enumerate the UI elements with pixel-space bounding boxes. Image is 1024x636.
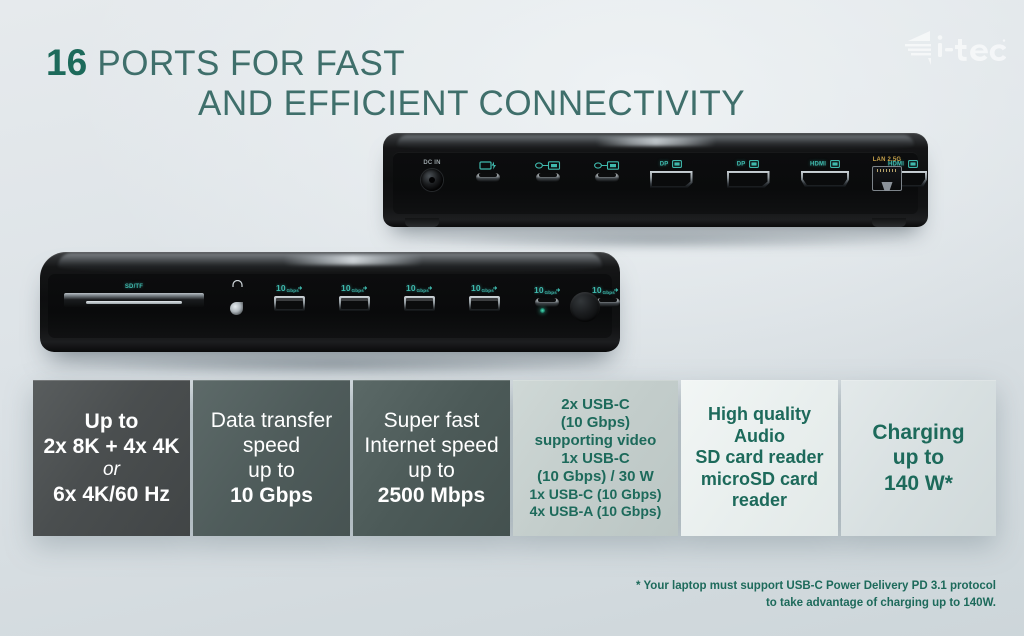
svg-text:Gbps: Gbps (545, 290, 558, 295)
port-label-sd-tf: SD/TF (62, 284, 206, 290)
feature-line: 2500 Mbps (361, 483, 502, 508)
usb-c-connector (476, 173, 500, 182)
usb-10gbps-icon: 10Gbps (461, 283, 507, 293)
svg-text:Gbps: Gbps (287, 288, 300, 293)
dock-front-body: SD/TF 10Gbps (40, 252, 620, 352)
feature-line: reader (689, 490, 830, 512)
usb-c-display-icon (524, 161, 572, 170)
svg-text:Gbps: Gbps (603, 290, 616, 295)
feature-line: SD card reader (689, 447, 830, 469)
svg-text:Gbps: Gbps (482, 288, 495, 293)
svg-text:10: 10 (341, 283, 351, 293)
footnote-line-1: * Your laptop must support USB-C Power D… (476, 578, 996, 595)
feature-line: microSD card (689, 469, 830, 491)
i-tec-logo (900, 27, 1006, 69)
usb-c-connector (536, 173, 560, 182)
status-led (537, 308, 547, 313)
docking-station-front: SD/TF 10Gbps (40, 252, 620, 364)
port-usbc-display-2[interactable] (583, 161, 631, 182)
laptop-charge-icon (466, 161, 510, 170)
feature-line: (10 Gbps) (521, 414, 670, 432)
port-label-dc-in: DC IN (409, 160, 455, 166)
feature-line: up to (361, 458, 502, 483)
port-displayport-2[interactable]: DP (718, 160, 778, 188)
port-label-hdmi-1: HDMI (793, 160, 857, 168)
dock-rear-port-panel: DC IN (393, 152, 918, 214)
port-label-dp-2: DP (718, 160, 778, 168)
usb-a-connector (469, 296, 500, 311)
port-usb-a-2[interactable]: 10Gbps (331, 283, 377, 311)
audio-jack-connector (229, 292, 245, 316)
displayport-connector (650, 171, 693, 188)
svg-text:10: 10 (471, 283, 481, 293)
usb-a-connector (404, 296, 435, 311)
headline-line-2: AND EFFICIENT CONNECTIVITY (46, 84, 806, 124)
port-usb-a-3[interactable]: 10Gbps (396, 283, 442, 311)
feature-line: Internet speed (361, 433, 502, 458)
page-title: 16 PORTS FOR FAST AND EFFICIENT CONNECTI… (46, 42, 806, 124)
port-sd-tf-card-slot[interactable]: SD/TF (62, 284, 206, 307)
svg-text:10: 10 (534, 285, 544, 295)
port-usb-a-4[interactable]: 10Gbps (461, 283, 507, 311)
usb-c-display-icon (583, 161, 631, 170)
docking-station-rear: DC IN (383, 133, 928, 239)
feature-line: speed (201, 433, 342, 458)
usb-10gbps-icon: 10Gbps (396, 283, 442, 293)
power-button-icon (570, 292, 600, 322)
port-hdmi-1[interactable]: HDMI (793, 160, 857, 187)
feature-usb-ports: 2x USB-C (10 Gbps) supporting video 1x U… (513, 380, 678, 536)
feature-line: 2x USB-C (521, 396, 670, 414)
feature-line: or (41, 459, 182, 482)
feature-line: (10 Gbps) / 30 W (521, 468, 670, 486)
svg-text:Gbps: Gbps (417, 288, 430, 293)
usb-10gbps-icon: 10Gbps (526, 285, 568, 295)
hdmi-connector (801, 171, 849, 187)
headline-line-1-text: PORTS FOR FAST (87, 44, 405, 83)
feature-line: 1x USB-C (10 Gbps) (521, 486, 670, 503)
feature-line: 140 W* (849, 471, 988, 496)
footnote: * Your laptop must support USB-C Power D… (476, 578, 996, 611)
card-slot-icon (64, 293, 204, 307)
feature-internet-speed: Super fast Internet speed up to 2500 Mbp… (353, 380, 510, 536)
feature-line: 2x 8K + 4x 4K (41, 434, 182, 459)
power-button[interactable] (568, 292, 602, 322)
feature-audio-cardreader: High quality Audio SD card reader microS… (681, 380, 838, 536)
headline-number: 16 (46, 42, 87, 83)
feature-line: 6x 4K/60 Hz (41, 482, 182, 507)
dock-rear-brand-emboss (596, 137, 716, 146)
usb-c-connector (595, 173, 619, 182)
feature-charging: Charging up to 140 W* (841, 380, 996, 536)
port-label-lan: LAN 2.5G (861, 157, 913, 163)
feature-line: supporting video (521, 432, 670, 450)
feature-line: 1x USB-C (521, 450, 670, 468)
dock-front-port-panel: SD/TF 10Gbps (48, 274, 612, 338)
feature-line: up to (201, 458, 342, 483)
led-indicator-icon (540, 308, 545, 313)
feature-line: 10 Gbps (201, 483, 342, 508)
feature-line: up to (849, 445, 988, 470)
port-audio-jack[interactable] (223, 280, 251, 316)
feature-resolution: Up to 2x 8K + 4x 4K or 6x 4K/60 Hz (33, 380, 190, 536)
dc-jack-icon (421, 169, 443, 191)
headphone-icon (223, 280, 251, 289)
port-usbc-display-1[interactable] (524, 161, 572, 182)
feature-line: Up to (41, 409, 182, 434)
usb-a-connector (339, 296, 370, 311)
svg-text:10: 10 (276, 283, 286, 293)
headline-line-1: 16 PORTS FOR FAST (46, 42, 806, 84)
feature-line: Data transfer (201, 408, 342, 433)
feature-box-row: Up to 2x 8K + 4x 4K or 6x 4K/60 Hz Data … (33, 380, 996, 536)
svg-text:10: 10 (406, 283, 416, 293)
usb-c-connector (535, 298, 559, 307)
dock-rear-body: DC IN (383, 133, 928, 227)
poster-canvas: 16 PORTS FOR FAST AND EFFICIENT CONNECTI… (0, 0, 1024, 636)
port-lan-2-5g[interactable]: LAN 2.5G (861, 157, 913, 191)
feature-line: Charging (849, 420, 988, 445)
feature-line: Audio (689, 426, 830, 448)
dock-front-brand-emboss (283, 255, 423, 265)
svg-text:Gbps: Gbps (352, 288, 365, 293)
feature-data-transfer: Data transfer speed up to 10 Gbps (193, 380, 350, 536)
usb-a-connector (274, 296, 305, 311)
feature-line: Super fast (361, 408, 502, 433)
feature-line: High quality (689, 404, 830, 426)
port-dc-in[interactable]: DC IN (409, 160, 455, 191)
port-label-dp-1: DP (641, 160, 701, 168)
rj45-icon (872, 166, 902, 191)
displayport-connector (727, 171, 770, 188)
usb-10gbps-icon: 10Gbps (331, 283, 377, 293)
port-displayport-1[interactable]: DP (641, 160, 701, 188)
port-usb-c-1[interactable]: 10Gbps (526, 285, 568, 307)
usb-10gbps-icon: 10Gbps (266, 283, 312, 293)
port-usbc-laptop-charge[interactable] (466, 161, 510, 182)
footnote-line-2: to take advantage of charging up to 140W… (476, 595, 996, 612)
port-usb-a-1[interactable]: 10Gbps (266, 283, 312, 311)
feature-line: 4x USB-A (10 Gbps) (521, 503, 670, 520)
